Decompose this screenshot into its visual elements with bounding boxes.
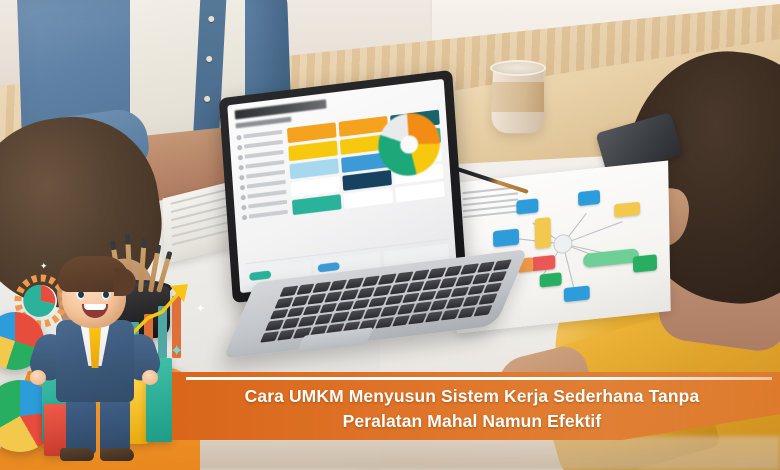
sidebar-row[interactable] [242,209,288,221]
shirt-button [206,56,212,62]
mascot-left-leg [66,398,96,454]
sparkle-icon: ✦ [196,304,205,315]
thumbnail-canvas: ✦ ✦ ✦ Cara UMKM Menyusun Sistem Kerja Se… [0,0,780,470]
mascot-right-shoe [100,448,134,461]
dashboard-subtitle [236,117,292,129]
dashboard-sidebar[interactable] [236,129,288,225]
title-line-2: Peralatan Mahal Namun Efektif [172,409,772,434]
diagram-node-proses [578,190,600,206]
sparkle-icon: ✦ [40,262,48,271]
diagram-node-cek [614,202,640,218]
dashboard-title [235,99,327,119]
title-banner-rule [186,377,772,380]
sparkle-icon: ✦ [170,344,183,360]
title-line-1: Cara UMKM Menyusun Sistem Kerja Sederhan… [172,384,772,409]
mascot-left-shoe [60,448,94,461]
diagram-node-output [564,285,590,302]
coffee-cup-rim [490,60,546,76]
coffee-cup-sleeve [492,82,544,112]
diagram-node-kirim [535,217,551,249]
diagram-node-input [516,198,538,214]
mascot-left-hand [30,370,46,385]
diagram-node-selesai [540,272,562,287]
diagram-node-arsip [531,255,555,272]
title-text: Cara UMKM Menyusun Sistem Kerja Sederhan… [172,384,772,434]
mascot-right-hand [142,370,158,385]
diagram-node-final [633,254,657,273]
diagram-node-simpan [493,228,519,247]
accent-dot [48,292,53,297]
mascot-right-leg [100,398,130,454]
shirt-button [204,96,210,102]
shirt-button [208,16,214,22]
